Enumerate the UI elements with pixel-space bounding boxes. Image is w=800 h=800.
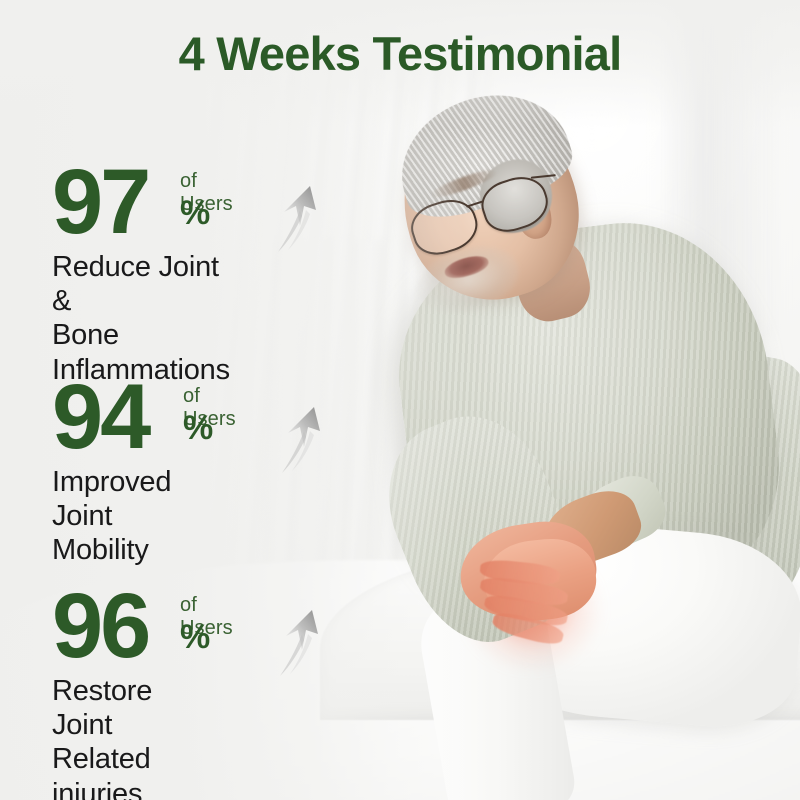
stat-1-percent-symbol: %	[180, 194, 210, 233]
stat-2-value: 94	[52, 371, 148, 463]
up-arrow-icon	[270, 180, 328, 258]
stat-3-value: 96	[52, 580, 148, 672]
stat-2-description: Improved Joint Mobility	[52, 465, 171, 568]
testimonial-poster: 4 Weeks Testimonial 97 of Users %	[0, 0, 800, 800]
page-title: 4 Weeks Testimonial	[0, 26, 800, 81]
stat-3-percent-symbol: %	[180, 618, 210, 657]
up-arrow-icon	[272, 604, 330, 682]
stat-3-description: Restore Joint Related injuries	[52, 674, 152, 800]
up-arrow-icon	[274, 401, 332, 479]
poster-content: 4 Weeks Testimonial 97 of Users %	[0, 0, 800, 800]
stat-2-percent-symbol: %	[183, 409, 213, 448]
stat-1-value: 97	[52, 156, 148, 248]
